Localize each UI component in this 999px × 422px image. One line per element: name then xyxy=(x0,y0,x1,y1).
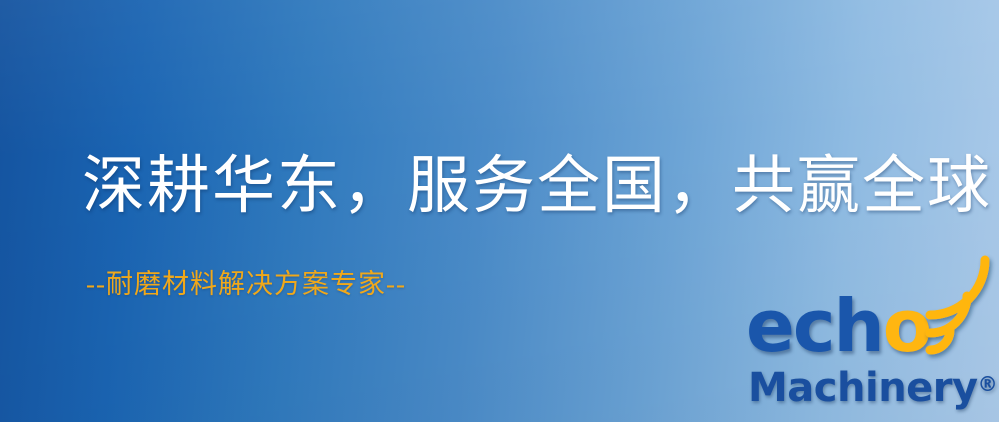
signal-waves-icon xyxy=(922,288,996,358)
promo-banner: 深耕华东，服务全国，共赢全球 --耐磨材料解决方案专家-- echo xyxy=(0,0,999,422)
logo-wordmark: echo xyxy=(746,290,930,362)
echo-machinery-logo[interactable]: echo Machinery® xyxy=(744,288,994,420)
logo-mark: echo Machinery® xyxy=(744,288,994,420)
logo-wordmark-ech: ech xyxy=(746,284,883,368)
logo-sub-text: Machinery xyxy=(748,365,978,411)
banner-subtitle: --耐磨材料解决方案专家-- xyxy=(86,268,406,300)
logo-sub-wordmark: Machinery® xyxy=(748,368,998,408)
registered-trademark-icon: ® xyxy=(978,372,998,396)
banner-headline: 深耕华东，服务全国，共赢全球 xyxy=(82,150,992,222)
